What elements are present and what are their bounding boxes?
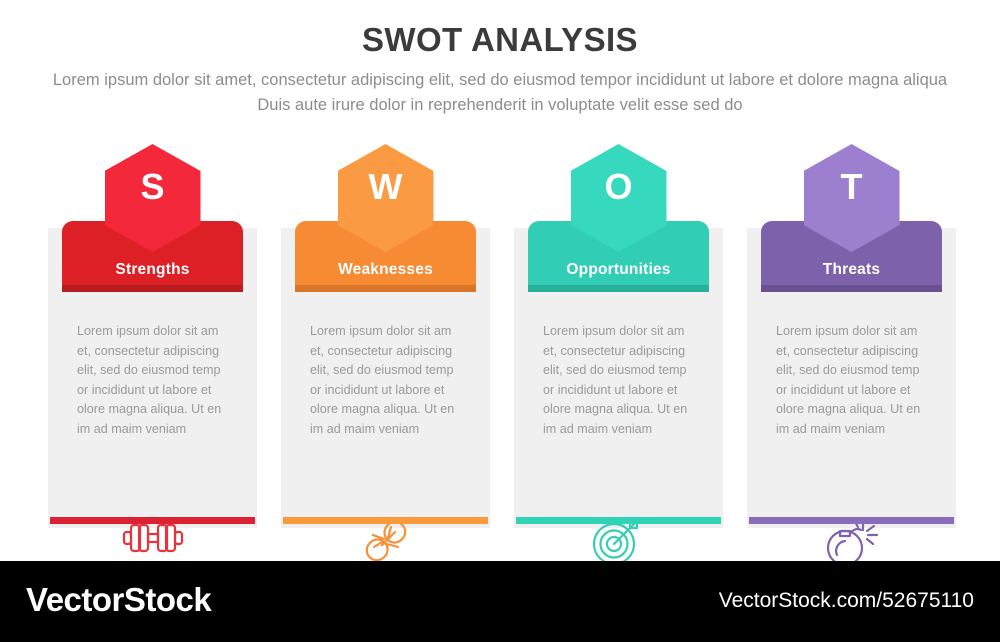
swot-card-grid: Lorem ipsum dolor sit am et, consectetur… [48, 144, 956, 528]
card-hexagon-badge[interactable]: W [338, 144, 434, 252]
footer-bar: VectorStock VectorStock.com/52675110 [0, 561, 1000, 642]
page-title: SWOT ANALYSIS [0, 21, 1000, 59]
card-accent-bar [283, 517, 488, 524]
swot-card-opportunities: Lorem ipsum dolor sit am et, consectetur… [514, 144, 723, 528]
swot-card-threats: Lorem ipsum dolor sit am et, consectetur… [747, 144, 956, 528]
card-body-text: Lorem ipsum dolor sit am et, consectetur… [310, 322, 462, 439]
card-header-shadow [62, 285, 243, 292]
card-body-text: Lorem ipsum dolor sit am et, consectetur… [77, 322, 229, 439]
card-header-label: Opportunities [528, 261, 709, 279]
card-hexagon-badge[interactable]: S [105, 144, 201, 252]
card-header-shadow [761, 285, 942, 292]
card-accent-bar [516, 517, 721, 524]
footer-brand: VectorStock [26, 581, 211, 619]
card-header-label: Weaknesses [295, 261, 476, 279]
hexagon-letter: S [105, 144, 201, 230]
card-accent-bar [50, 517, 255, 524]
card-hexagon-badge[interactable]: O [571, 144, 667, 252]
card-header-shadow [295, 285, 476, 292]
card-header-label: Strengths [62, 261, 243, 279]
hexagon-letter: O [571, 144, 667, 230]
card-hexagon-badge[interactable]: T [804, 144, 900, 252]
page-subtitle: Lorem ipsum dolor sit amet, consectetur … [50, 68, 950, 118]
swot-card-weaknesses: Lorem ipsum dolor sit am et, consectetur… [281, 144, 490, 528]
card-body-text: Lorem ipsum dolor sit am et, consectetur… [776, 322, 928, 439]
footer-url: VectorStock.com/52675110 [719, 589, 974, 613]
hexagon-letter: W [338, 144, 434, 230]
card-accent-bar [749, 517, 954, 524]
infographic-canvas: SWOT ANALYSIS Lorem ipsum dolor sit amet… [0, 0, 1000, 561]
card-body-text: Lorem ipsum dolor sit am et, consectetur… [543, 322, 695, 439]
card-header-shadow [528, 285, 709, 292]
hexagon-letter: T [804, 144, 900, 230]
swot-card-strengths: Lorem ipsum dolor sit am et, consectetur… [48, 144, 257, 528]
card-header-label: Threats [761, 261, 942, 279]
